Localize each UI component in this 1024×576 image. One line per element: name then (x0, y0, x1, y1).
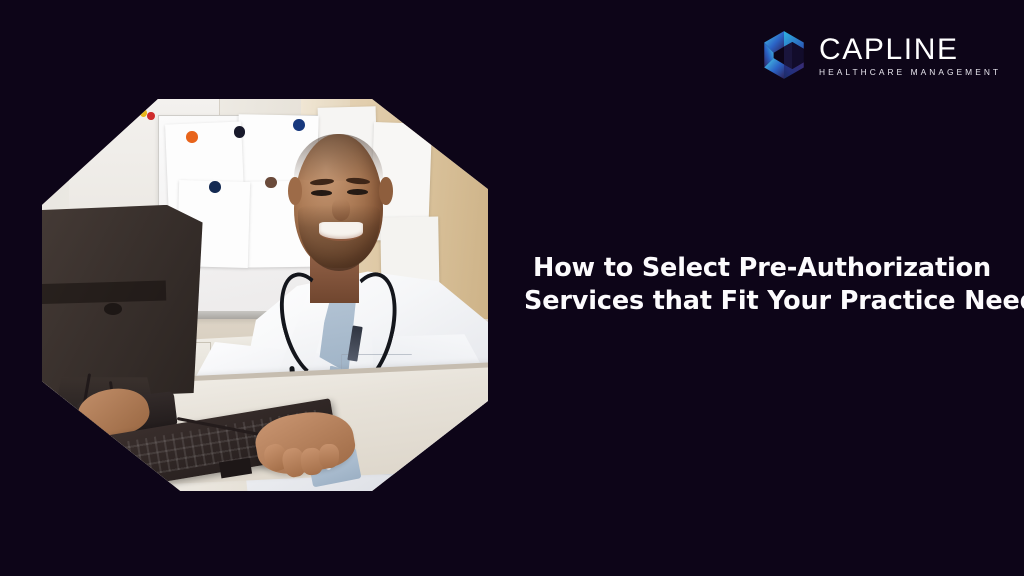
push-pin (209, 181, 221, 193)
page-title: How to Select Pre-Authorization Services… (524, 252, 1000, 318)
push-pin (186, 131, 198, 143)
headline-line-1: How to Select Pre-Authorization (524, 252, 1000, 285)
doctor-smile (319, 222, 364, 240)
doctor-nose (332, 199, 350, 221)
doctor-ear (288, 177, 301, 204)
logo-tagline: HEALTHCARE MANAGEMENT (819, 66, 1002, 78)
logo-wordmark: CAPLINE (819, 34, 1002, 66)
finger (318, 444, 339, 468)
headline-line-2: Services that Fit Your Practice Needs (524, 285, 1000, 318)
doctor-ear (379, 177, 392, 204)
push-pin (265, 177, 277, 189)
doctor-at-computer-photo (42, 99, 488, 491)
monitor-power-button (104, 303, 122, 315)
doctor-eye (311, 190, 332, 196)
slide-canvas: CAPLINE HEALTHCARE MANAGEMENT (0, 0, 1024, 576)
photo-scene (42, 99, 488, 491)
push-pin (147, 112, 155, 121)
doctor-eye (347, 189, 368, 195)
push-pin (293, 119, 305, 131)
capline-logo[interactable]: CAPLINE HEALTHCARE MANAGEMENT (758, 26, 990, 84)
capline-hexagon-c-icon (758, 29, 810, 81)
logo-text-block: CAPLINE HEALTHCARE MANAGEMENT (819, 32, 1002, 78)
